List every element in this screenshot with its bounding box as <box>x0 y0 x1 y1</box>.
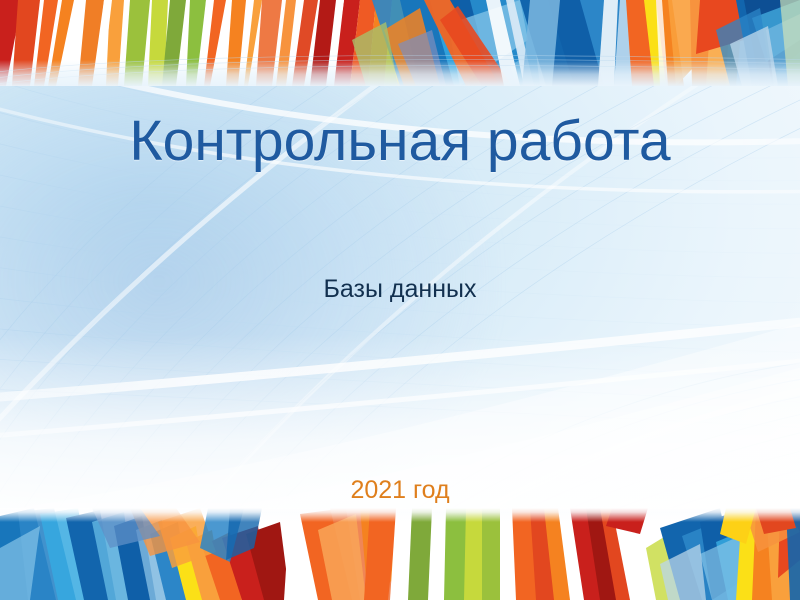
bottom-decoration-band <box>0 508 800 600</box>
slide-title: Контрольная работа <box>0 112 800 172</box>
top-shards-graphic <box>0 0 800 86</box>
slide-year: 2021 год <box>0 476 800 505</box>
top-decoration-band <box>0 0 800 86</box>
slide-subtitle: Базы данных <box>0 275 800 304</box>
title-slide: Контрольная работа Базы данных 2021 год <box>0 0 800 600</box>
bottom-shards-graphic <box>0 508 800 600</box>
